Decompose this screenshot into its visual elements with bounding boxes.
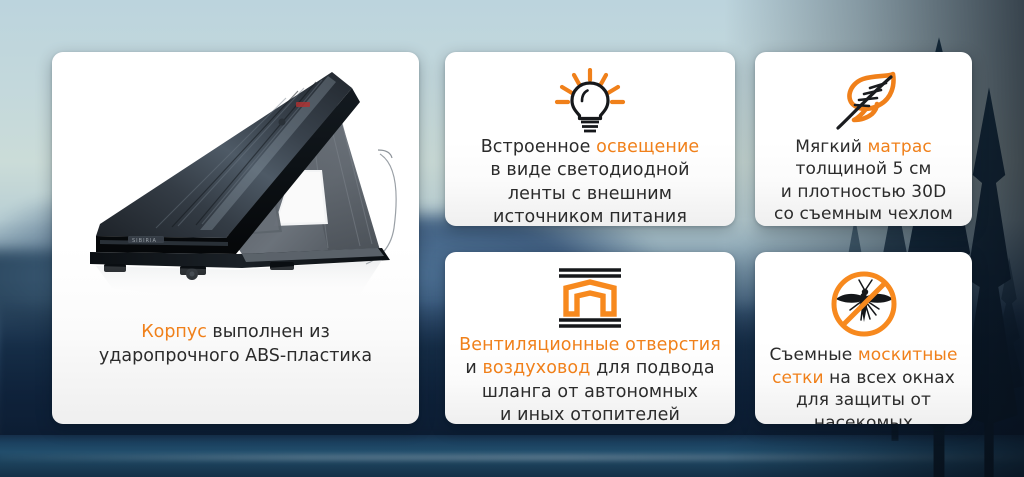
caption-text: и иных отопителей xyxy=(500,405,680,424)
card-hull: SIBIRIA xyxy=(52,52,419,424)
caption-line: Корпус выполнен из xyxy=(99,320,372,344)
feather-icon-wrap xyxy=(825,68,903,134)
caption-line: источником питания xyxy=(481,206,700,226)
feather-icon xyxy=(825,70,903,132)
feature-grid-page: SIBIRIA xyxy=(0,0,1024,477)
caption-line: сетки на всех окнах xyxy=(769,367,957,390)
caption-highlight: москитные xyxy=(858,345,958,365)
caption-text: со съемным чехлом xyxy=(774,204,953,224)
caption-text: шланга от автономных xyxy=(482,382,698,402)
caption-text: толщиной 5 см xyxy=(796,159,932,179)
caption-highlight: воздуховод xyxy=(482,358,590,378)
svg-text:SIBIRIA: SIBIRIA xyxy=(132,238,157,244)
no-mosquito-icon-wrap xyxy=(828,268,900,340)
caption-line: со съемным чехлом xyxy=(774,203,953,226)
caption-line: Мягкий матрас xyxy=(774,136,953,159)
caption-highlight: Корпус xyxy=(141,322,207,342)
caption-line: и воздуховод для подвода xyxy=(459,357,721,380)
caption-text: на всех окнах xyxy=(824,368,955,388)
caption-text: для подвода xyxy=(590,358,714,378)
caption-highlight: Вентиляционные отверстия xyxy=(459,335,721,355)
lightbulb-icon-wrap xyxy=(553,68,627,134)
caption-text: Съемные xyxy=(769,345,857,365)
caption-line: шланга от автономных xyxy=(459,381,721,404)
vent-icon-wrap xyxy=(555,266,625,330)
card-mattress-caption: Мягкий матрас толщиной 5 см и плотностью… xyxy=(762,136,965,226)
caption-highlight: сетки xyxy=(772,368,824,388)
caption-line: насекомых xyxy=(769,412,957,424)
caption-text: выполнен из xyxy=(207,322,330,342)
lightbulb-icon xyxy=(553,68,627,134)
vent-icon xyxy=(555,266,625,330)
caption-text: ленты с внешним xyxy=(508,184,672,204)
card-mosquito-nets-caption: Съемные москитные сетки на всех окнах дл… xyxy=(757,344,969,424)
caption-line: ленты с внешним xyxy=(481,183,700,206)
caption-line: для защиты от xyxy=(769,389,957,412)
caption-text: насекомых xyxy=(814,413,913,424)
card-ventilation: Вентиляционные отверстия и воздуховод дл… xyxy=(445,252,735,424)
card-mosquito-nets: Съемные москитные сетки на всех окнах дл… xyxy=(755,252,972,424)
no-mosquito-icon xyxy=(828,268,900,340)
caption-line: Вентиляционные отверстия xyxy=(459,334,721,357)
caption-text: в виде светодиодной xyxy=(490,160,689,180)
caption-text: и xyxy=(465,358,482,378)
rooftop-tent-photo: SIBIRIA xyxy=(52,52,419,314)
card-lighting-caption: Встроенное освещение в виде светодиодной… xyxy=(469,136,712,226)
caption-line: толщиной 5 см xyxy=(774,158,953,181)
caption-text: для защиты от xyxy=(796,390,931,410)
rooftop-tent-illustration: SIBIRIA xyxy=(60,58,412,314)
caption-text: Встроенное xyxy=(481,137,596,157)
caption-line: и плотностью 30D xyxy=(774,181,953,204)
caption-text: и плотностью 30D xyxy=(781,182,947,202)
card-lighting: Встроенное освещение в виде светодиодной… xyxy=(445,52,735,226)
caption-text: Мягкий xyxy=(795,137,867,157)
caption-highlight: освещение xyxy=(596,137,699,157)
caption-line: Съемные москитные xyxy=(769,344,957,367)
caption-line: ударопрочного ABS-пластика xyxy=(99,344,372,368)
caption-line: в виде светодиодной xyxy=(481,159,700,182)
caption-text: источником питания xyxy=(493,207,687,226)
caption-text: ударопрочного ABS-пластика xyxy=(99,346,372,366)
caption-line: Встроенное освещение xyxy=(481,136,700,159)
caption-highlight: матрас xyxy=(867,137,931,157)
caption-line: и иных отопителей xyxy=(459,404,721,424)
card-hull-caption: Корпус выполнен из ударопрочного ABS-пла… xyxy=(81,320,390,368)
card-ventilation-caption: Вентиляционные отверстия и воздуховод дл… xyxy=(447,334,733,424)
card-mattress: Мягкий матрас толщиной 5 см и плотностью… xyxy=(755,52,972,226)
